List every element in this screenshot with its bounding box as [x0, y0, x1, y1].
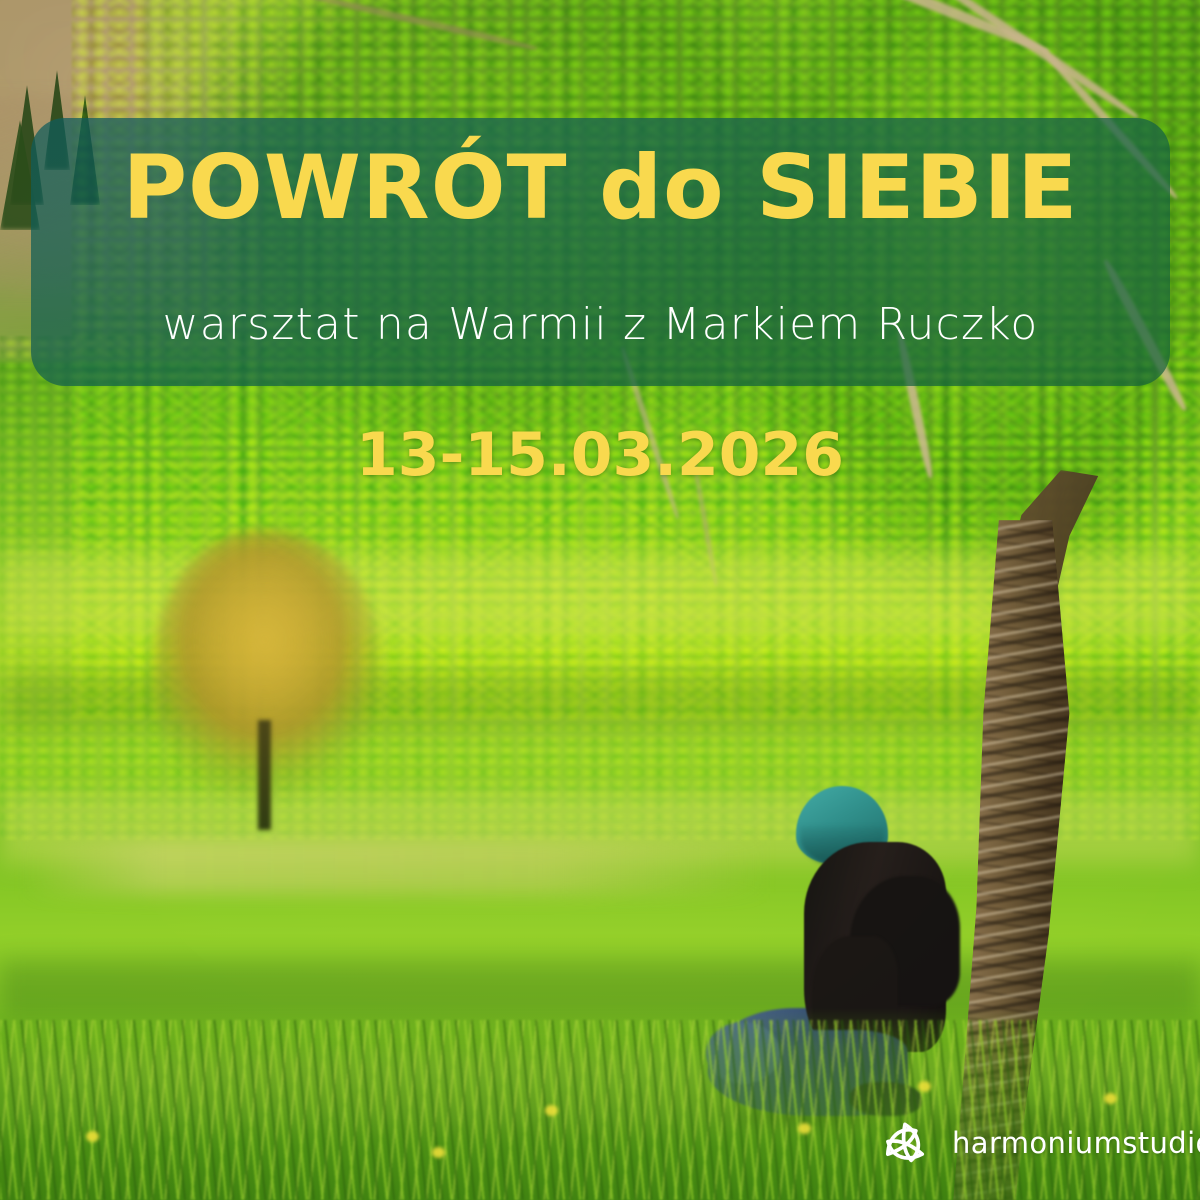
page-title: POWRÓT do SIEBIE	[31, 144, 1170, 232]
triquetra-icon	[874, 1112, 936, 1174]
brand-logo[interactable]: harmoniumstudio.pl	[874, 1112, 1200, 1174]
brand-logo-text: harmoniumstudio.pl	[952, 1126, 1200, 1160]
page-subtitle: warsztat na Warmii z Markiem Ruczko	[31, 303, 1170, 347]
poster-canvas: POWRÓT do SIEBIE warsztat na Warmii z Ma…	[0, 0, 1200, 1200]
headline-banner: POWRÓT do SIEBIE warsztat na Warmii z Ma…	[31, 118, 1170, 386]
event-dates: 13-15.03.2026	[0, 425, 1200, 485]
